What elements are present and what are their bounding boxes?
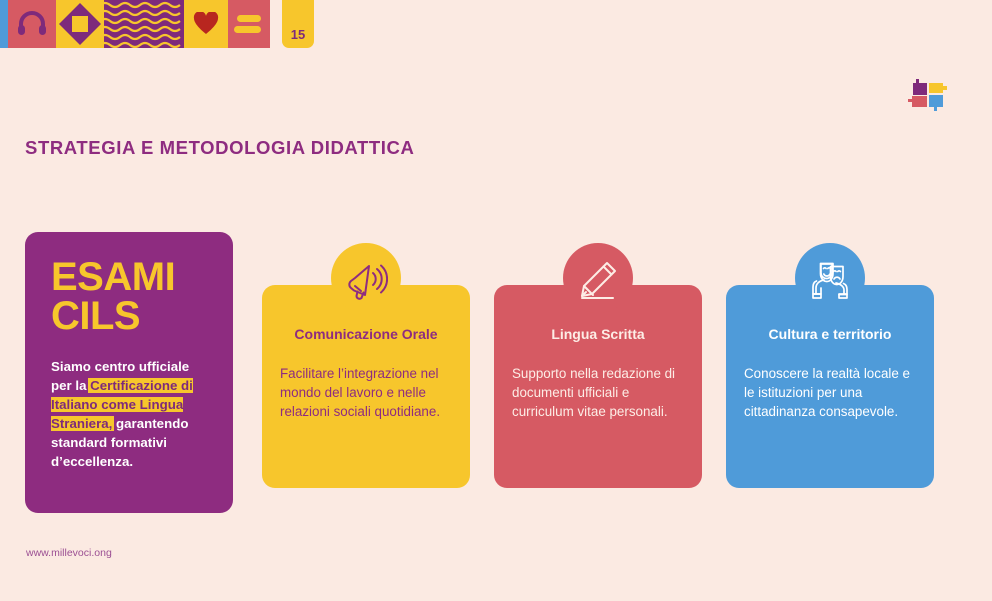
millevoci-pinwheel-logo (908, 76, 950, 112)
hero-body: Siamo centro ufficiale per la Certificaz… (51, 358, 211, 471)
card-icon-bump-written (563, 243, 633, 313)
heart-icon (193, 12, 219, 36)
waves-icon (104, 0, 184, 48)
heart-tile (184, 0, 228, 48)
theatre-masks-in-hands-icon (808, 259, 852, 303)
four-square-pinwheel-icon (908, 76, 950, 112)
headphones-icon (17, 11, 47, 37)
diamond-square-icon (58, 2, 102, 46)
footer-url[interactable]: www.millevoci.ong (26, 547, 112, 559)
card-heading-culture: Cultura e territorio (744, 326, 916, 342)
megaphone-icon (344, 259, 388, 303)
top-decorative-band: 15 (0, 0, 314, 48)
page-number-badge: 15 (282, 0, 314, 48)
card-text-culture: Conoscere la realtà locale e le istituzi… (744, 364, 916, 421)
cards-row: ESAMI CILS Siamo centro ufficiale per la… (25, 232, 965, 522)
equals-tile (228, 0, 270, 48)
hero-title: ESAMI CILS (51, 258, 211, 336)
card-text-oral: Facilitare l’integrazione nel mondo del … (280, 364, 452, 421)
headphones-tile (8, 0, 56, 48)
card-icon-bump-culture (795, 243, 865, 313)
card-esami-cils: ESAMI CILS Siamo centro ufficiale per la… (25, 232, 233, 513)
blue-strip (0, 0, 8, 48)
waves-tile (104, 0, 184, 48)
pencil-icon (576, 259, 620, 303)
card-cultura-territorio: Cultura e territorio Conoscere la realtà… (726, 285, 934, 488)
card-lingua-scritta: Lingua Scritta Supporto nella redazione … (494, 285, 702, 488)
card-heading-oral: Comunicazione Orale (280, 326, 452, 342)
page-title: STRATEGIA E METODOLOGIA DIDATTICA (25, 137, 414, 159)
card-heading-written: Lingua Scritta (512, 326, 684, 342)
card-icon-bump-oral (331, 243, 401, 313)
card-text-written: Supporto nella redazione di documenti uf… (512, 364, 684, 421)
diamond-tile (56, 0, 104, 48)
hero-title-line2: CILS (51, 297, 211, 336)
card-comunicazione-orale: Comunicazione Orale Facilitare l’integra… (262, 285, 470, 488)
equals-icon (234, 14, 264, 34)
hero-title-line1: ESAMI (51, 255, 175, 299)
